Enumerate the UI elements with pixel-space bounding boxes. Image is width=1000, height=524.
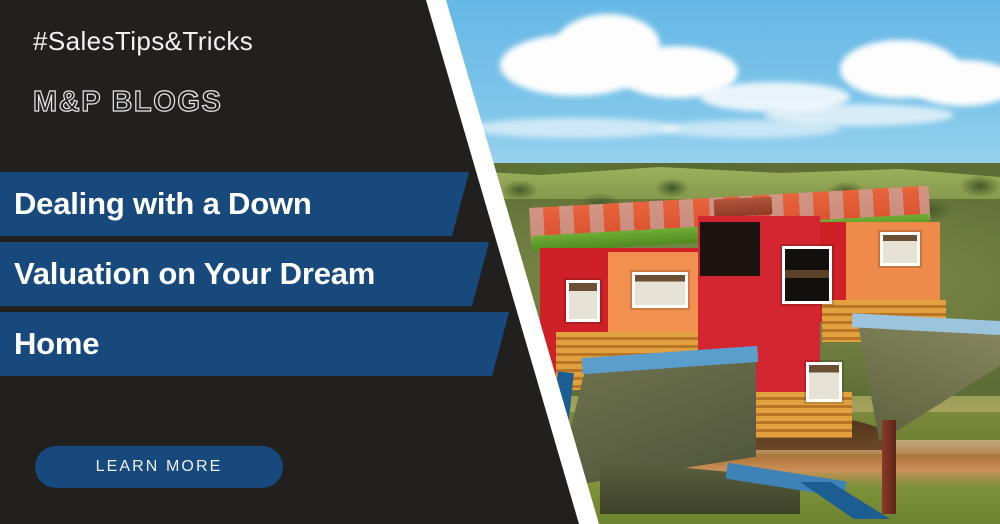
band-slant-2: [472, 242, 494, 306]
band-slant-3: [492, 312, 514, 376]
headline-band-1: Dealing with a Down: [0, 172, 474, 236]
headline-line-2: Valuation on Your Dream: [0, 256, 375, 292]
band-slant-1: [452, 172, 474, 236]
headline-line-3: Home: [0, 326, 99, 362]
learn-more-button[interactable]: LEARN MORE: [35, 446, 283, 488]
promo-banner: #SalesTips&Tricks M&P BLOGS Dealing with…: [0, 0, 1000, 524]
headline-line-1: Dealing with a Down: [0, 186, 312, 222]
headline-band-2: Valuation on Your Dream: [0, 242, 494, 306]
headline-band-3: Home: [0, 312, 514, 376]
